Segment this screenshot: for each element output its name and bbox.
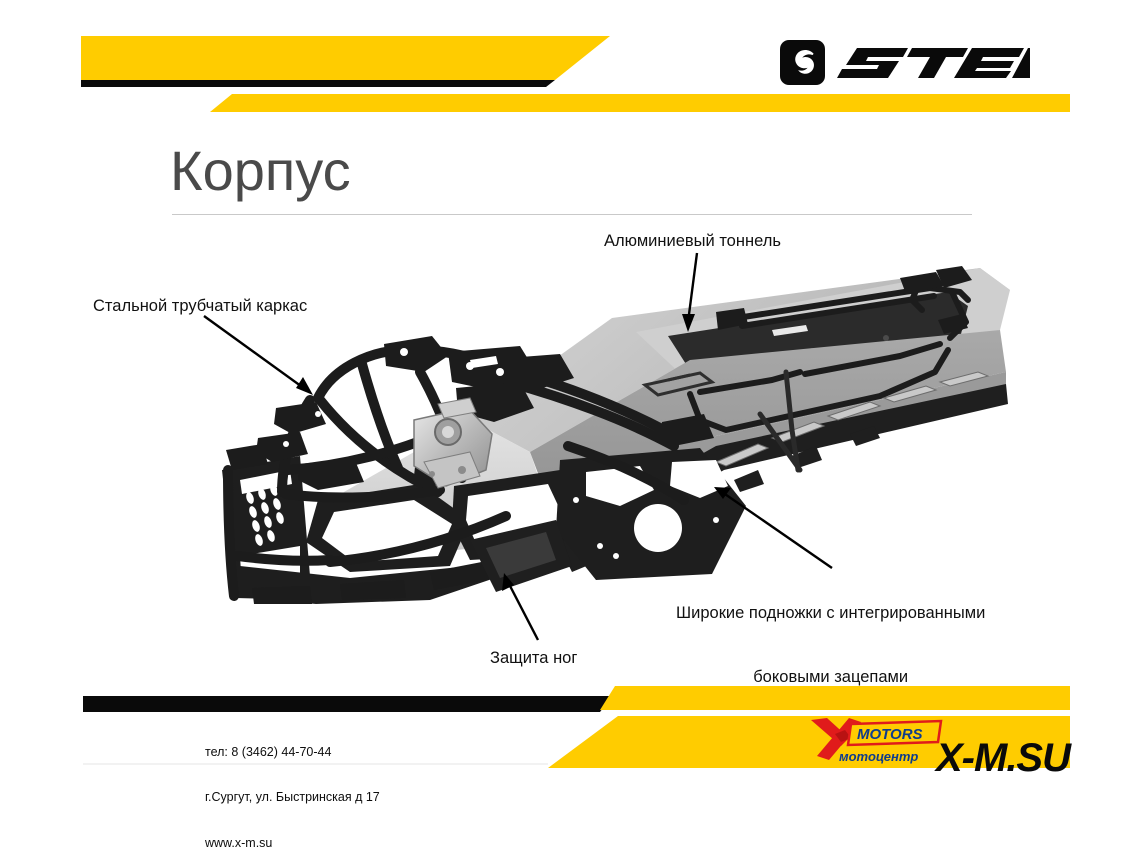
center-casting [414,398,492,488]
xmotors-secondary-text: мотоцентр [839,749,918,764]
arrow-line-frame [204,316,305,389]
contact-block: тел: 8 (3462) 44-70-44 г.Сургут, ул. Быс… [205,714,380,867]
arrowhead-legs [502,573,514,591]
site-wordmark: X-M.SU [936,736,1070,781]
arrowhead-frame [296,377,313,395]
arrowhead-tunnel [682,314,695,332]
leg-protection-panel [470,520,572,592]
footer-yellow-slab [600,686,1070,710]
header-yellow-slab [81,36,610,80]
contact-phone: тел: 8 (3462) 44-70-44 [205,745,380,760]
xmotors-primary-text: MOTORS [857,726,923,743]
page-title: Корпус [170,140,351,202]
annotation-steel-tubular-frame: Стальной трубчатый каркас [93,296,307,317]
annotation-leg-protection: Защита ног [490,648,577,669]
frame-brackets [226,336,714,604]
leader-arrowheads [296,314,731,591]
title-divider [172,214,972,215]
stels-wordmark [837,48,1030,78]
contact-website[interactable]: www.x-m.su [205,836,380,851]
rear-bumper-hoop [690,286,968,430]
contact-address: г.Сургут, ул. Быстринская д 17 [205,790,380,805]
steel-tubular-frame [222,336,746,604]
annotation-running-boards-line1: Широкие подножки с интегрированными [676,603,985,624]
header-black-bar [81,80,555,87]
annotation-aluminium-tunnel: Алюминиевый тоннель [604,231,781,252]
arrow-line-legs [508,582,538,640]
header-yellow-stripe [210,94,1070,112]
running-board [500,372,1008,572]
arrowhead-running-boards [714,487,731,499]
aluminium-tunnel-body [330,268,1010,562]
xmotors-wordmark-plate: MOTORS [848,721,941,745]
arrow-line-tunnel [688,253,697,322]
rear-bracketry [716,266,972,334]
arrow-line-running-boards [722,492,832,568]
xmotors-logo[interactable]: MOTORS мотоцентр [805,716,945,766]
footer-black-bar [83,696,612,712]
stels-logo [780,38,1030,88]
